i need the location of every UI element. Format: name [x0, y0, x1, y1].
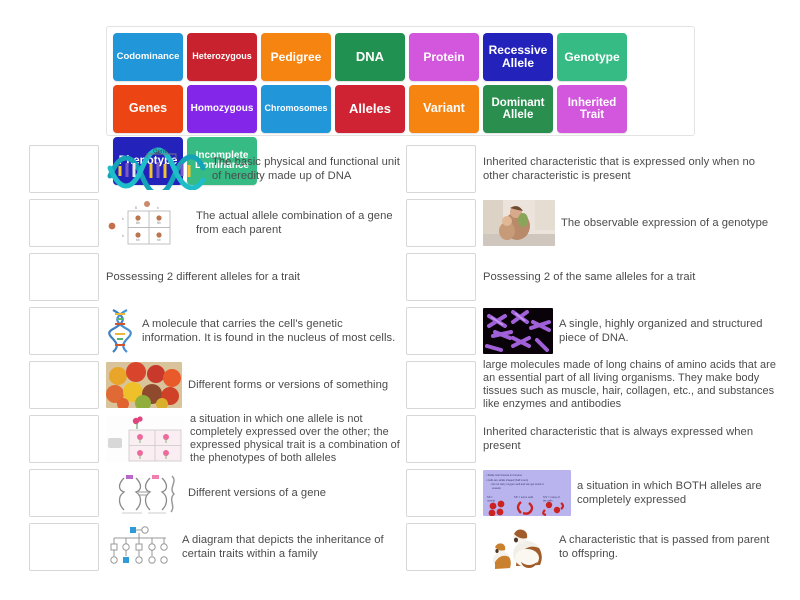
dna-gene-helix-image: Gene: [106, 146, 206, 192]
answer-dropzone[interactable]: [406, 145, 476, 193]
definition-body: A molecule that carries the cell's genet…: [106, 307, 401, 355]
svg-text:SS' = some cells: SS' = some cells: [514, 495, 534, 499]
answer-dropzone[interactable]: [29, 361, 99, 409]
matching-row: Gene The basic physical and functional u…: [29, 145, 401, 193]
svg-text:vessels: vessels: [492, 486, 501, 490]
definition-text: Inherited characteristic that is express…: [483, 155, 778, 184]
definition-body: large molecules made of long chains of a…: [483, 361, 778, 409]
matching-row: A single, highly organized and structure…: [406, 307, 778, 355]
svg-text:Bb: Bb: [136, 221, 140, 225]
definition-text: large molecules made of long chains of a…: [483, 359, 778, 412]
definition-text: Inherited characteristic that is always …: [483, 425, 778, 454]
svg-text:SS =: SS =: [487, 495, 493, 499]
svg-text:normal: normal: [487, 499, 495, 503]
answer-dropzone[interactable]: [29, 253, 99, 301]
word-tile-label: DNA: [338, 50, 402, 64]
answer-dropzone[interactable]: [29, 469, 99, 517]
word-tile[interactable]: Dominant Allele: [483, 85, 553, 133]
word-tile[interactable]: Homozygous: [187, 85, 257, 133]
answer-dropzone[interactable]: [406, 361, 476, 409]
word-tile-label: Chromosomes: [264, 104, 328, 113]
pedigree-chart-image: [106, 524, 176, 570]
definition-text: Possessing 2 of the same alleles for a t…: [483, 270, 695, 284]
svg-text:Gene: Gene: [153, 149, 168, 155]
definition-body: A single, highly organized and structure…: [483, 307, 778, 355]
sickle-cell-anemia-slide-image: • Sickle Cell Anemia in humans • Cells a…: [483, 470, 571, 516]
incomplete-dominance-flowers-image: [106, 416, 184, 462]
definition-body: a situation in which one allele is not c…: [106, 415, 401, 463]
definition-body: Different versions of a gene: [106, 469, 401, 517]
matching-row: • Sickle Cell Anemia in humans • Cells a…: [406, 469, 778, 517]
word-tile-label: Genotype: [560, 51, 624, 64]
word-tile-label: Protein: [412, 51, 476, 64]
matching-row: A molecule that carries the cell's genet…: [29, 307, 401, 355]
definition-body: Inherited characteristic that is express…: [483, 145, 778, 193]
answer-dropzone[interactable]: [406, 469, 476, 517]
matching-row: A diagram that depicts the inheritance o…: [29, 523, 401, 571]
definition-text: Possessing 2 different alleles for a tra…: [106, 270, 300, 284]
answer-dropzone[interactable]: [29, 307, 99, 355]
svg-text:b: b: [157, 206, 159, 210]
word-tile-label: Pedigree: [264, 51, 328, 64]
definition-body: Possessing 2 of the same alleles for a t…: [483, 253, 778, 301]
word-tile-label: Inherited Trait: [560, 97, 624, 121]
definition-text: The actual allele combination of a gene …: [196, 209, 401, 238]
word-tile-label: Heterozygous: [190, 52, 254, 61]
svg-text:b: b: [122, 234, 124, 238]
word-tile-label: Variant: [412, 102, 476, 115]
svg-text:bb: bb: [136, 238, 140, 242]
svg-text:• Sickle Cell Anemia in humans: • Sickle Cell Anemia in humans: [486, 473, 522, 477]
dna-double-helix-image: [106, 308, 136, 354]
definition-text: A single, highly organized and structure…: [559, 317, 778, 346]
definition-text: A characteristic that is passed from par…: [559, 533, 778, 562]
word-tile-label: Codominance: [116, 52, 180, 62]
punnett-square-parents-image: BbBb bbbb Bb bb: [106, 200, 190, 246]
word-tile[interactable]: Recessive Allele: [483, 33, 553, 81]
matching-row: BbBb bbbb Bb bb The actual allele combin…: [29, 199, 401, 247]
matching-row: Inherited characteristic that is always …: [406, 415, 778, 463]
word-tile[interactable]: Inherited Trait: [557, 85, 627, 133]
svg-text:b: b: [122, 217, 124, 221]
definition-body: Gene The basic physical and functional u…: [106, 145, 401, 193]
answer-dropzone[interactable]: [406, 523, 476, 571]
word-tile-label: Dominant Allele: [486, 97, 550, 121]
word-tile-label: Alleles: [338, 102, 402, 116]
svg-text:Bb: Bb: [157, 221, 161, 225]
right-answer-column: Inherited characteristic that is express…: [406, 145, 778, 577]
word-tile[interactable]: Genotype: [557, 33, 627, 81]
svg-text:bb: bb: [157, 238, 161, 242]
matching-row: Possessing 2 of the same alleles for a t…: [406, 253, 778, 301]
definition-text: Different forms or versions of something: [188, 378, 388, 392]
matching-row: Different forms or versions of something: [29, 361, 401, 409]
answer-dropzone[interactable]: [29, 199, 99, 247]
svg-text:the cells: the cells: [543, 499, 553, 503]
svg-text:• Cells are sickle shaped (hal: • Cells are sickle shaped (half moon): [486, 478, 528, 482]
chromosome-alleles-image: [106, 470, 182, 516]
definition-body: Inherited characteristic that is always …: [483, 415, 778, 463]
word-tile-label: Recessive Allele: [486, 44, 550, 69]
left-answer-column: Gene The basic physical and functional u…: [29, 145, 401, 577]
matching-row: Different versions of a gene: [29, 469, 401, 517]
matching-row: Possessing 2 different alleles for a tra…: [29, 253, 401, 301]
word-tile[interactable]: Protein: [409, 33, 479, 81]
word-tile[interactable]: Chromosomes: [261, 85, 331, 133]
definition-text: a situation in which one allele is not c…: [190, 413, 401, 466]
definition-text: A molecule that carries the cell's genet…: [142, 317, 401, 346]
definition-body: Different forms or versions of something: [106, 361, 401, 409]
dogs-parent-offspring-photo: [483, 524, 553, 570]
word-tile[interactable]: Codominance: [113, 33, 183, 81]
definition-body: The observable expression of a genotype: [483, 199, 778, 247]
answer-dropzone[interactable]: [406, 415, 476, 463]
svg-text:B: B: [135, 206, 137, 210]
word-tile[interactable]: DNA: [335, 33, 405, 81]
word-tile-label: Homozygous: [190, 104, 254, 115]
purple-chromosomes-photo: [483, 308, 553, 354]
matching-activity-page: CodominanceHeterozygousPedigreeDNAProtei…: [0, 0, 800, 600]
definition-text: The basic physical and functional unit o…: [212, 155, 401, 184]
matching-row: large molecules made of long chains of a…: [406, 361, 778, 409]
word-tile[interactable]: Variant: [409, 85, 479, 133]
word-tile[interactable]: Pedigree: [261, 33, 331, 81]
matching-row: The observable expression of a genotype: [406, 199, 778, 247]
definition-body: • Sickle Cell Anemia in humans • Cells a…: [483, 469, 778, 517]
matching-row: A characteristic that is passed from par…: [406, 523, 778, 571]
word-tile[interactable]: Alleles: [335, 85, 405, 133]
word-tile-bank: CodominanceHeterozygousPedigreeDNAProtei…: [106, 26, 695, 136]
definition-text: Different versions of a gene: [188, 486, 326, 500]
answer-dropzone[interactable]: [406, 307, 476, 355]
word-tile[interactable]: Genes: [113, 85, 183, 133]
definition-body: A diagram that depicts the inheritance o…: [106, 523, 401, 571]
definition-body: BbBb bbbb Bb bb The actual allele combin…: [106, 199, 401, 247]
answer-dropzone[interactable]: [29, 145, 99, 193]
mother-and-child-photo: [483, 200, 555, 246]
matching-row: a situation in which one allele is not c…: [29, 415, 401, 463]
definition-text: The observable expression of a genotype: [561, 216, 768, 230]
answer-dropzone[interactable]: [29, 415, 99, 463]
answer-dropzone[interactable]: [406, 253, 476, 301]
definition-body: A characteristic that is passed from par…: [483, 523, 778, 571]
answer-dropzone[interactable]: [29, 523, 99, 571]
matching-row: Inherited characteristic that is express…: [406, 145, 778, 193]
definition-text: A diagram that depicts the inheritance o…: [182, 533, 401, 562]
word-tile[interactable]: Heterozygous: [187, 33, 257, 81]
word-tile-label: Genes: [116, 102, 180, 115]
tomatoes-varieties-image: [106, 362, 182, 408]
answer-dropzone[interactable]: [406, 199, 476, 247]
svg-text:- Do not carry oxygen well and: - Do not carry oxygen well and can get s…: [490, 482, 544, 486]
definition-body: Possessing 2 different alleles for a tra…: [106, 253, 401, 301]
svg-text:S'S' = many of: S'S' = many of: [543, 495, 560, 499]
definition-text: a situation in which BOTH alleles are co…: [577, 479, 778, 508]
